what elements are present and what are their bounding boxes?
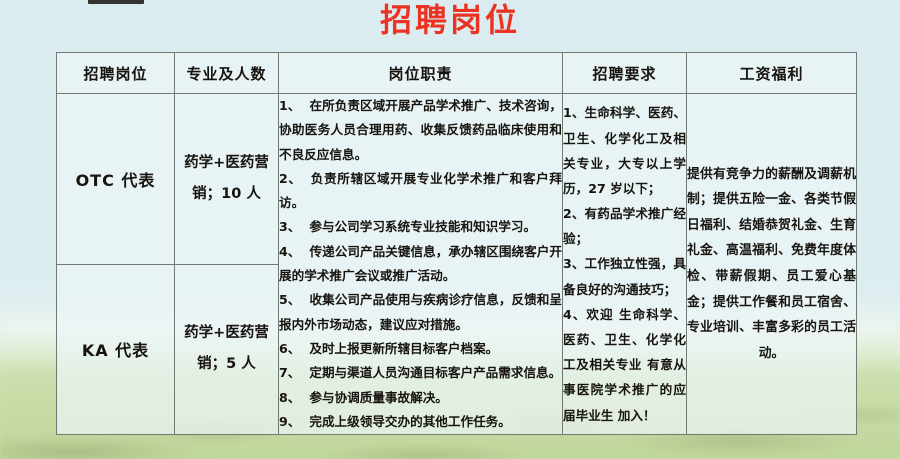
benefits-text: 提供有竞争力的薪酬及调薪机制；提供五险一金、各类节假日福利、结婚恭贺礼金、生育礼… [687,162,856,367]
duty-item: 6、及时上报更新所辖目标客户档案。 [279,337,562,361]
cell-major-ka: 药学+医药营销；5 人 [175,264,279,435]
cell-position-otc: OTC 代表 [57,94,175,265]
duty-text: 参与公司学习系统专业技能和知识学习。 [309,219,536,234]
recruitment-table-wrapper: 招聘岗位 专业及人数 岗位职责 招聘要求 工资福利 OTC 代表 药学+医药营销… [56,52,856,416]
recruitment-table: 招聘岗位 专业及人数 岗位职责 招聘要求 工资福利 OTC 代表 药学+医药营销… [56,52,857,435]
table-header: 招聘岗位 专业及人数 岗位职责 招聘要求 工资福利 [57,53,857,94]
requirement-item: 1、生命科学、医药、卫生、化学化工及相关专业，大专以上学历，27 岁以下； [563,100,686,201]
header-position: 招聘岗位 [57,53,175,94]
duty-item: 2、负责所辖区域开展专业化学术推广和客户拜访。 [279,167,562,216]
duty-number: 1、 [279,98,300,113]
cell-duties: 1、在所负责区域开展产品学术推广、技术咨询，协助医务人员合理用药、收集反馈药品临… [279,94,563,435]
duty-item: 7、定期与渠道人员沟通目标客户产品需求信息。 [279,361,562,385]
duty-text: 及时上报更新所辖目标客户档案。 [309,341,498,356]
duty-text: 定期与渠道人员沟通目标客户产品需求信息。 [309,365,561,380]
requirement-item: 2、有药品学术推广经验； [563,201,686,251]
table-body: OTC 代表 药学+医药营销；10 人 1、在所负责区域开展产品学术推广、技术咨… [57,94,857,435]
duty-text: 完成上级领导交办的其他工作任务。 [309,414,511,429]
table-row: OTC 代表 药学+医药营销；10 人 1、在所负责区域开展产品学术推广、技术咨… [57,94,857,265]
duty-item: 3、参与公司学习系统专业技能和知识学习。 [279,215,562,239]
duty-number: 4、 [279,244,300,259]
header-duties: 岗位职责 [279,53,563,94]
cell-benefits: 提供有竞争力的薪酬及调薪机制；提供五险一金、各类节假日福利、结婚恭贺礼金、生育礼… [687,94,857,435]
cell-requirements: 1、生命科学、医药、卫生、化学化工及相关专业，大专以上学历，27 岁以下； 2、… [563,94,687,435]
duty-item: 9、完成上级领导交办的其他工作任务。 [279,410,562,434]
duty-item: 1、在所负责区域开展产品学术推广、技术咨询，协助医务人员合理用药、收集反馈药品临… [279,94,562,167]
duty-item: 5、收集公司产品使用与疾病诊疗信息，反馈和呈报内外市场动态，建议应对措施。 [279,288,562,337]
duty-number: 9、 [279,414,300,429]
cell-position-ka: KA 代表 [57,264,175,435]
header-requirements: 招聘要求 [563,53,687,94]
duty-text: 传递公司产品关键信息，承办辖区围绕客户开展的学术推广会议或推广活动。 [279,244,562,283]
duty-number: 8、 [279,390,300,405]
duty-number: 6、 [279,341,300,356]
duty-text: 参与协调质量事故解决。 [309,390,448,405]
requirement-item: 4、欢迎 生命科学、医药、卫生、化学化工及相关专业 有意从事医院学术推广的应届毕… [563,302,686,428]
cell-major-otc: 药学+医药营销；10 人 [175,94,279,265]
header-benefits: 工资福利 [687,53,857,94]
slide-canvas: 招聘岗位 招聘岗位 专业及人数 岗位职责 招聘要求 工资福利 OTC 代表 药学… [0,0,900,459]
duty-number: 7、 [279,365,300,380]
duty-item: 8、参与协调质量事故解决。 [279,386,562,410]
page-title: 招聘岗位 [0,0,900,42]
duty-text: 负责所辖区域开展专业化学术推广和客户拜访。 [279,171,562,210]
duty-number: 5、 [279,292,300,307]
duty-text: 收集公司产品使用与疾病诊疗信息，反馈和呈报内外市场动态，建议应对措施。 [279,292,562,331]
duty-number: 2、 [279,171,302,186]
table-header-row: 招聘岗位 专业及人数 岗位职责 招聘要求 工资福利 [57,53,857,94]
requirement-item: 3、工作独立性强，具备良好的沟通技巧； [563,251,686,301]
header-major-headcount: 专业及人数 [175,53,279,94]
duty-item: 4、传递公司产品关键信息，承办辖区围绕客户开展的学术推广会议或推广活动。 [279,240,562,289]
duty-number: 3、 [279,219,300,234]
duty-text: 在所负责区域开展产品学术推广、技术咨询，协助医务人员合理用药、收集反馈药品临床使… [279,98,562,162]
